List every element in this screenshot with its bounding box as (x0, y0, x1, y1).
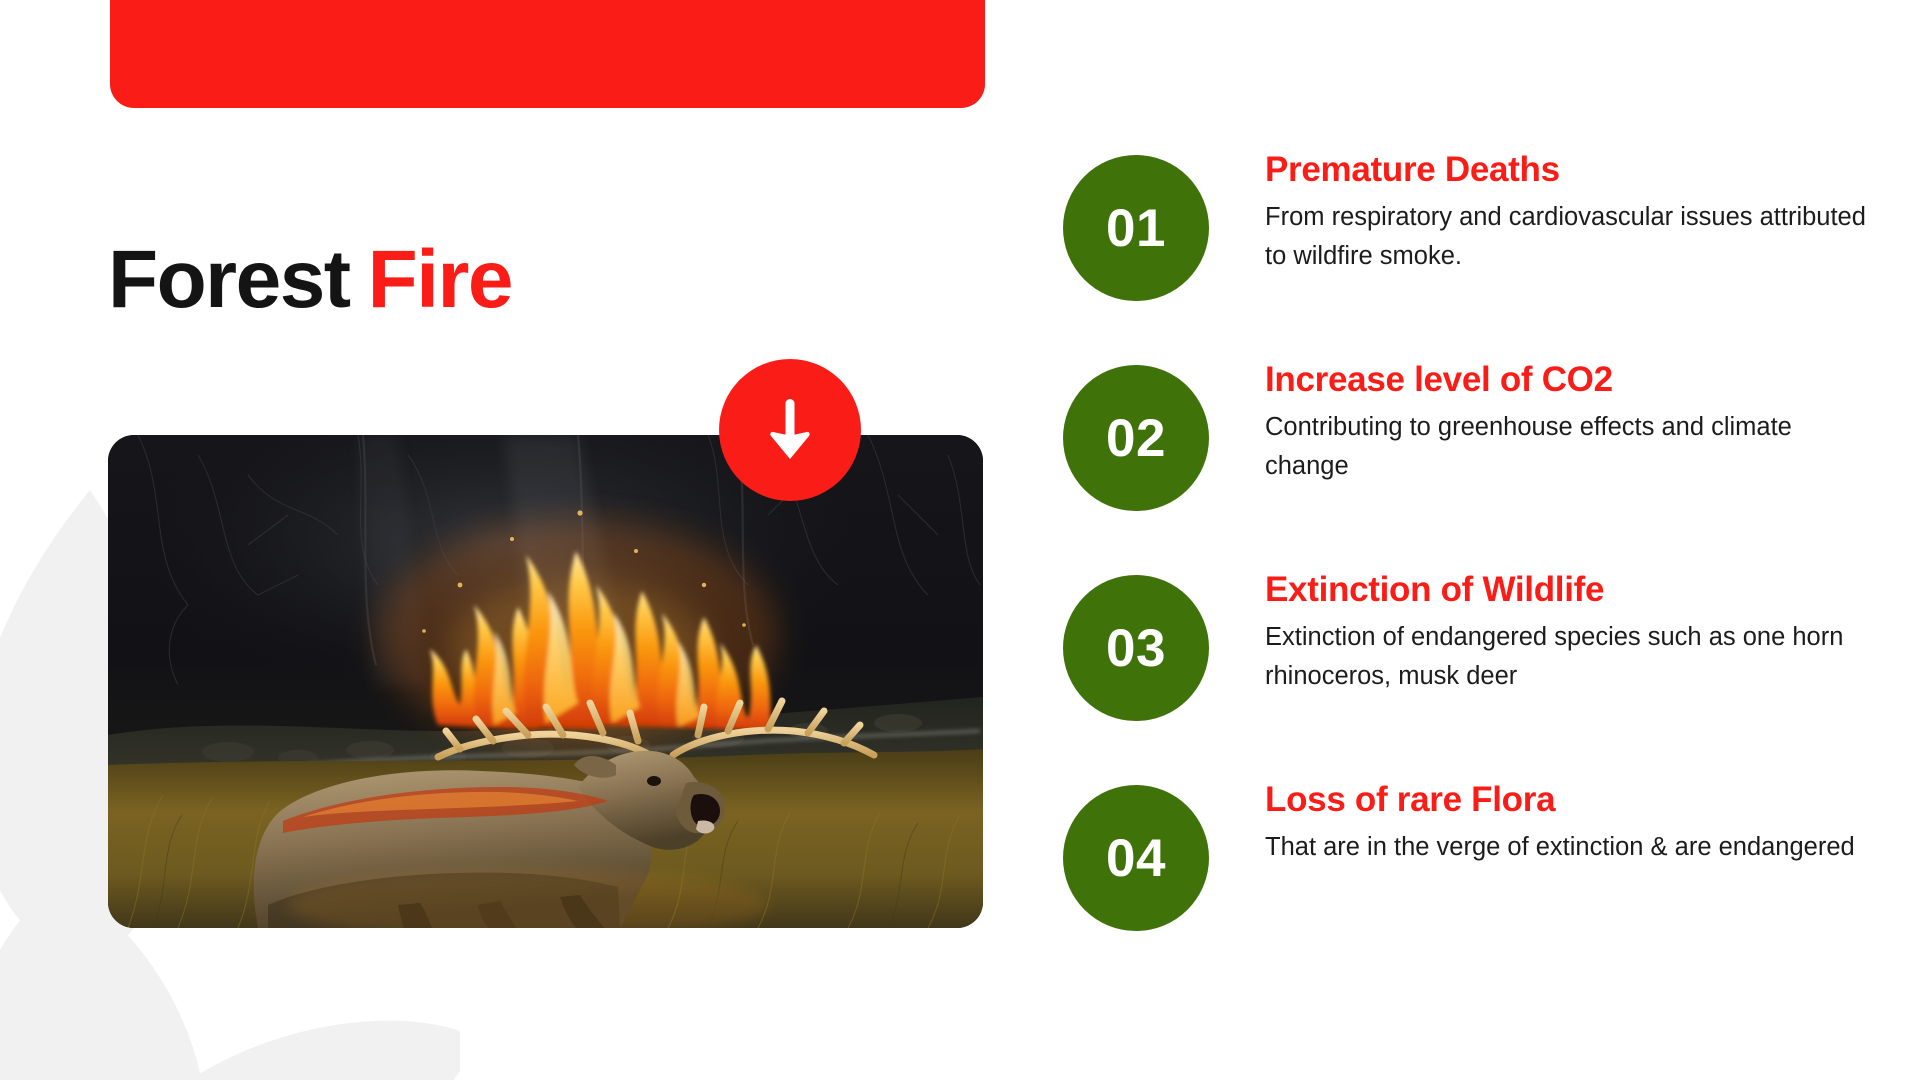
list-item: 04 Loss of rare Flora That are in the ve… (1063, 780, 1883, 990)
top-red-banner (110, 0, 985, 108)
list-item-number: 01 (1106, 202, 1166, 255)
list-item-description: Contributing to greenhouse effects and c… (1265, 408, 1880, 486)
list-item-body: Increase level of CO2 Contributing to gr… (1265, 360, 1880, 486)
arrow-down-icon (767, 397, 813, 463)
list-item-number: 04 (1106, 832, 1166, 885)
list-item-body: Premature Deaths From respiratory and ca… (1265, 150, 1880, 276)
list-item-body: Extinction of Wildlife Extinction of end… (1265, 570, 1880, 696)
list-item-title: Premature Deaths (1265, 150, 1880, 190)
list-item-number: 02 (1106, 412, 1166, 465)
list-item-body: Loss of rare Flora That are in the verge… (1265, 780, 1880, 867)
hero-photo (108, 435, 983, 928)
list-item-description: From respiratory and cardiovascular issu… (1265, 198, 1880, 276)
list-item-title: Loss of rare Flora (1265, 780, 1880, 820)
list-item: 03 Extinction of Wildlife Extinction of … (1063, 570, 1883, 780)
list-item-description: That are in the verge of extinction & ar… (1265, 828, 1880, 867)
list-item-description: Extinction of endangered species such as… (1265, 618, 1880, 696)
list-item-title: Increase level of CO2 (1265, 360, 1880, 400)
list-item-number-badge: 01 (1063, 155, 1209, 301)
title-word-fire: Fire (368, 234, 512, 325)
list-item-number-badge: 03 (1063, 575, 1209, 721)
slide-root: ForestFire (0, 0, 1920, 1080)
title-word-forest: Forest (108, 234, 350, 325)
impact-list: 01 Premature Deaths From respiratory and… (1063, 150, 1883, 990)
page-title: ForestFire (108, 237, 512, 323)
scroll-down-button[interactable] (719, 359, 861, 501)
list-item-number-badge: 04 (1063, 785, 1209, 931)
list-item: 02 Increase level of CO2 Contributing to… (1063, 360, 1883, 570)
list-item-number-badge: 02 (1063, 365, 1209, 511)
list-item-number: 03 (1106, 622, 1166, 675)
list-item: 01 Premature Deaths From respiratory and… (1063, 150, 1883, 360)
list-item-title: Extinction of Wildlife (1265, 570, 1880, 610)
